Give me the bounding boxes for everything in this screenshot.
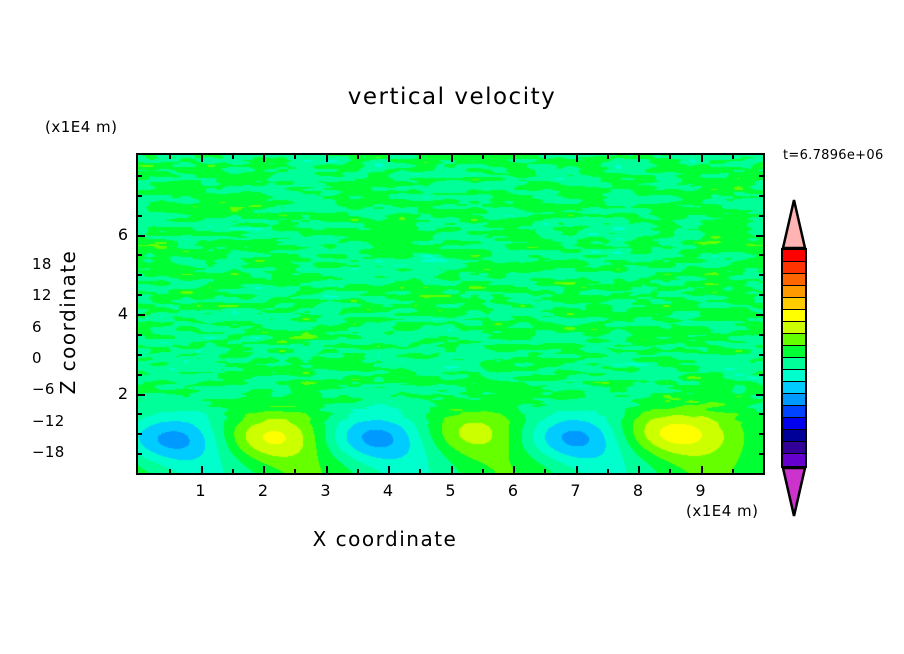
colorbar-band (783, 406, 805, 418)
x-tick (638, 466, 640, 473)
x-tick-top (201, 155, 203, 162)
x-tick-top (638, 155, 640, 162)
x-tick-top (451, 155, 453, 162)
colorbar-tick-label: 6 (32, 318, 42, 336)
y-tick-right (759, 195, 763, 197)
x-tick (232, 469, 234, 473)
y-tick (138, 453, 142, 455)
x-tick (451, 466, 453, 473)
colorbar-tick-label: 18 (32, 255, 52, 273)
y-tick (138, 175, 142, 177)
x-tick-top (669, 155, 671, 159)
x-tick (169, 469, 171, 473)
x-tick (294, 469, 296, 473)
colorbar-band (783, 298, 805, 310)
y-tick (138, 433, 142, 435)
y-tick-right (759, 254, 763, 256)
colorbar-cap-top (781, 198, 807, 248)
colorbar (781, 198, 807, 518)
colorbar-band (783, 394, 805, 406)
x-tick-top (169, 155, 171, 159)
colorbar-band (783, 382, 805, 394)
x-tick (388, 466, 390, 473)
page-title: vertical velocity (0, 84, 904, 110)
colorbar-band (783, 262, 805, 274)
x-tick (576, 466, 578, 473)
colorbar-band (783, 274, 805, 286)
colorbar-band (783, 346, 805, 358)
x-tick-top (294, 155, 296, 159)
colorbar-band (783, 310, 805, 322)
x-tick-label: 1 (181, 481, 221, 500)
x-tick-label: 3 (306, 481, 346, 500)
x-tick-top (326, 155, 328, 162)
x-tick-top (482, 155, 484, 159)
x-tick-top (607, 155, 609, 159)
y-tick-right (759, 433, 763, 435)
colorbar-tick-label: −6 (32, 380, 55, 398)
y-tick-label: 6 (88, 225, 128, 244)
colorbar-band (783, 322, 805, 334)
y-tick (138, 334, 142, 336)
x-tick (513, 466, 515, 473)
x-tick-label: 6 (493, 481, 533, 500)
x-tick-top (263, 155, 265, 162)
colorbar-tick-label: −18 (32, 443, 65, 461)
x-axis-label: X coordinate (0, 527, 770, 551)
contour-plot-area (136, 153, 765, 475)
y-tick (138, 354, 142, 356)
y-tick-right (759, 215, 763, 217)
x-tick-label: 9 (681, 481, 721, 500)
x-tick (326, 466, 328, 473)
x-tick-top (388, 155, 390, 162)
x-tick (263, 466, 265, 473)
x-tick-top (513, 155, 515, 162)
y-tick-right (759, 354, 763, 356)
x-tick (201, 466, 203, 473)
x-tick-label: 8 (618, 481, 658, 500)
colorbar-band (783, 418, 805, 430)
y-tick (138, 215, 142, 217)
y-tick (138, 374, 142, 376)
x-tick (357, 469, 359, 473)
colorbar-band (783, 250, 805, 262)
x-tick (482, 469, 484, 473)
y-tick (138, 413, 142, 415)
y-tick-right (759, 334, 763, 336)
colorbar-tick-label: 0 (32, 349, 42, 367)
x-tick-top (732, 155, 734, 159)
colorbar-cap-bottom (781, 466, 807, 516)
y-tick (138, 195, 142, 197)
x-axis-units: (x1E4 m) (686, 502, 759, 520)
x-tick (544, 469, 546, 473)
x-tick (732, 469, 734, 473)
x-tick-label: 5 (431, 481, 471, 500)
x-tick (669, 469, 671, 473)
colorbar-band (783, 430, 805, 442)
colorbar-band (783, 358, 805, 370)
y-tick-label: 4 (88, 304, 128, 323)
y-tick-right (759, 453, 763, 455)
y-tick-right (759, 294, 763, 296)
y-tick-right (759, 175, 763, 177)
colorbar-tick-label: −12 (32, 412, 65, 430)
colorbar-bands (781, 248, 807, 468)
y-axis-label: Z coordinate (56, 232, 80, 412)
x-tick (419, 469, 421, 473)
timestamp-annotation: t=6.7896e+06 (783, 148, 884, 163)
y-tick (138, 314, 145, 316)
x-tick-top (232, 155, 234, 159)
x-tick-top (357, 155, 359, 159)
x-tick-label: 4 (368, 481, 408, 500)
x-tick-top (701, 155, 703, 162)
colorbar-band (783, 334, 805, 346)
y-tick (138, 254, 142, 256)
x-tick (607, 469, 609, 473)
x-tick-top (576, 155, 578, 162)
colorbar-band (783, 454, 805, 466)
y-tick-right (756, 314, 763, 316)
y-tick-label: 2 (88, 384, 128, 403)
colorbar-tick-label: 12 (32, 286, 52, 304)
y-tick (138, 294, 142, 296)
y-tick-right (756, 235, 763, 237)
x-tick (701, 466, 703, 473)
y-axis-units: (x1E4 m) (45, 118, 118, 136)
y-tick-right (759, 374, 763, 376)
y-tick-right (759, 274, 763, 276)
colorbar-band (783, 442, 805, 454)
x-tick-label: 7 (556, 481, 596, 500)
vertical-velocity-field (138, 155, 763, 473)
y-tick (138, 394, 145, 396)
y-tick-right (756, 394, 763, 396)
colorbar-band (783, 370, 805, 382)
x-tick-top (419, 155, 421, 159)
x-tick-top (544, 155, 546, 159)
y-tick (138, 235, 145, 237)
colorbar-band (783, 286, 805, 298)
y-tick-right (759, 413, 763, 415)
x-tick-label: 2 (243, 481, 283, 500)
y-tick (138, 274, 142, 276)
